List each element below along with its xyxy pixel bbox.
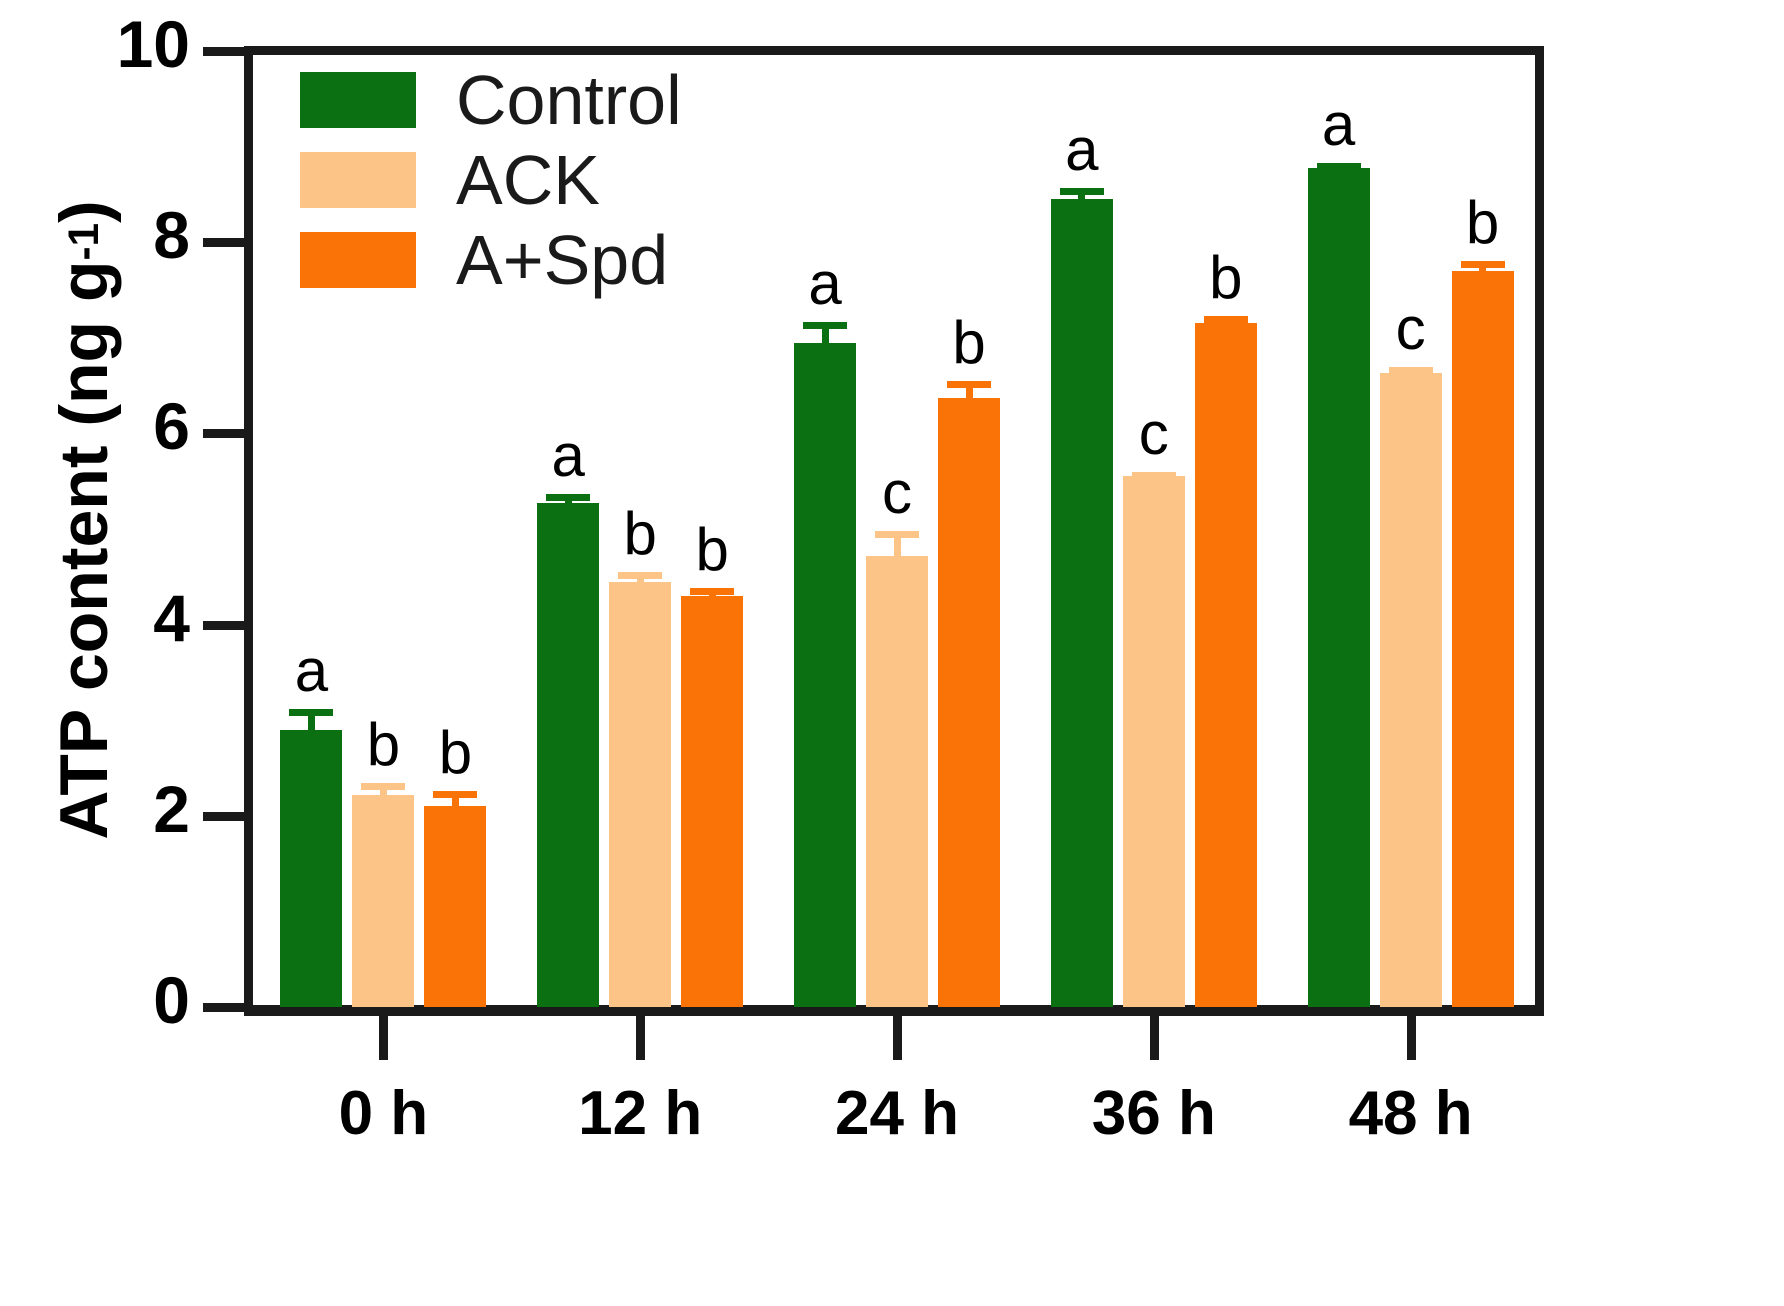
error-bar-cap [875, 531, 919, 538]
error-bar-cap [618, 572, 662, 579]
significance-letter: a [1322, 95, 1355, 155]
y-axis-tick-label: 8 [60, 197, 190, 273]
y-axis-title: ATP content (ng g-1) [24, 10, 144, 1030]
significance-letter: b [952, 313, 985, 373]
significance-letter: c [882, 463, 912, 523]
y-axis-title-main: ATP content (ng g [45, 260, 123, 839]
significance-letter: b [696, 520, 729, 580]
x-axis-tick-label: 24 h [835, 1078, 959, 1149]
error-bar-cap [947, 381, 991, 388]
legend-swatch-icon [300, 72, 416, 128]
significance-letter: b [624, 504, 657, 564]
significance-letter: c [1139, 404, 1169, 464]
legend-label: Control [456, 65, 682, 135]
bar-control-36h [1051, 199, 1113, 1007]
y-axis-tick-label: 6 [60, 388, 190, 464]
legend-label: ACK [456, 145, 600, 215]
error-bar-cap [1389, 367, 1433, 374]
error-bar-cap [289, 709, 333, 716]
y-axis-tick-label: 0 [60, 962, 190, 1038]
bar-control-0h [280, 730, 342, 1007]
x-axis-tick [1407, 1016, 1416, 1060]
y-axis-tick [203, 47, 245, 56]
error-bar-cap [1204, 316, 1248, 323]
significance-letter: c [1396, 299, 1426, 359]
bar-ack-48h [1380, 373, 1442, 1007]
y-axis-tick-label: 10 [60, 6, 190, 82]
y-axis-tick [203, 812, 245, 821]
significance-letter: b [439, 723, 472, 783]
bar-a-spd-36h [1195, 323, 1257, 1007]
bar-a-spd-48h [1452, 271, 1514, 1007]
x-axis-tick [379, 1016, 388, 1060]
significance-letter: a [808, 254, 841, 314]
error-bar-cap [690, 588, 734, 595]
significance-letter: b [1209, 248, 1242, 308]
x-axis-tick-label: 48 h [1349, 1078, 1473, 1149]
chart-legend: ControlACKA+Spd [300, 68, 682, 292]
x-axis-tick [893, 1016, 902, 1060]
bar-ack-0h [352, 795, 414, 1007]
significance-letter: a [295, 641, 328, 701]
legend-label: A+Spd [456, 225, 668, 295]
significance-letter: a [552, 426, 585, 486]
x-axis-tick-label: 12 h [578, 1078, 702, 1149]
bar-ack-36h [1123, 476, 1185, 1007]
error-bar-cap [803, 322, 847, 329]
y-axis-tick-label: 4 [60, 580, 190, 656]
error-bar-cap [1060, 188, 1104, 195]
error-bar-cap [546, 494, 590, 501]
legend-swatch-icon [300, 152, 416, 208]
error-bar-cap [361, 783, 405, 790]
legend-item-ack[interactable]: ACK [300, 148, 682, 212]
significance-letter: b [1466, 193, 1499, 253]
significance-letter: b [367, 715, 400, 775]
bar-ack-12h [609, 582, 671, 1007]
x-axis-tick-label: 36 h [1092, 1078, 1216, 1149]
y-axis-tick [203, 621, 245, 630]
error-bar-cap [1317, 163, 1361, 170]
error-bar-cap [1461, 261, 1505, 268]
error-bar-cap [433, 791, 477, 798]
y-axis-tick-label: 2 [60, 771, 190, 847]
legend-item-a-spd[interactable]: A+Spd [300, 228, 682, 292]
legend-item-control[interactable]: Control [300, 68, 682, 132]
y-axis-tick [203, 1003, 245, 1012]
y-axis-tick [203, 238, 245, 247]
x-axis-tick-label: 0 h [339, 1078, 429, 1149]
x-axis-tick [636, 1016, 645, 1060]
bar-a-spd-12h [681, 596, 743, 1007]
x-axis-tick [1150, 1016, 1159, 1060]
bar-a-spd-0h [424, 806, 486, 1007]
bar-control-48h [1308, 168, 1370, 1007]
y-axis-tick [203, 429, 245, 438]
error-bar-cap [1132, 472, 1176, 479]
atp-content-bar-chart: ATP content (ng g-1) 0246810 0 h12 h24 h… [0, 0, 1784, 1306]
bar-control-12h [537, 503, 599, 1007]
legend-swatch-icon [300, 232, 416, 288]
bar-a-spd-24h [938, 398, 1000, 1007]
significance-letter: a [1065, 120, 1098, 180]
bar-ack-24h [866, 556, 928, 1007]
bar-control-24h [794, 343, 856, 1007]
